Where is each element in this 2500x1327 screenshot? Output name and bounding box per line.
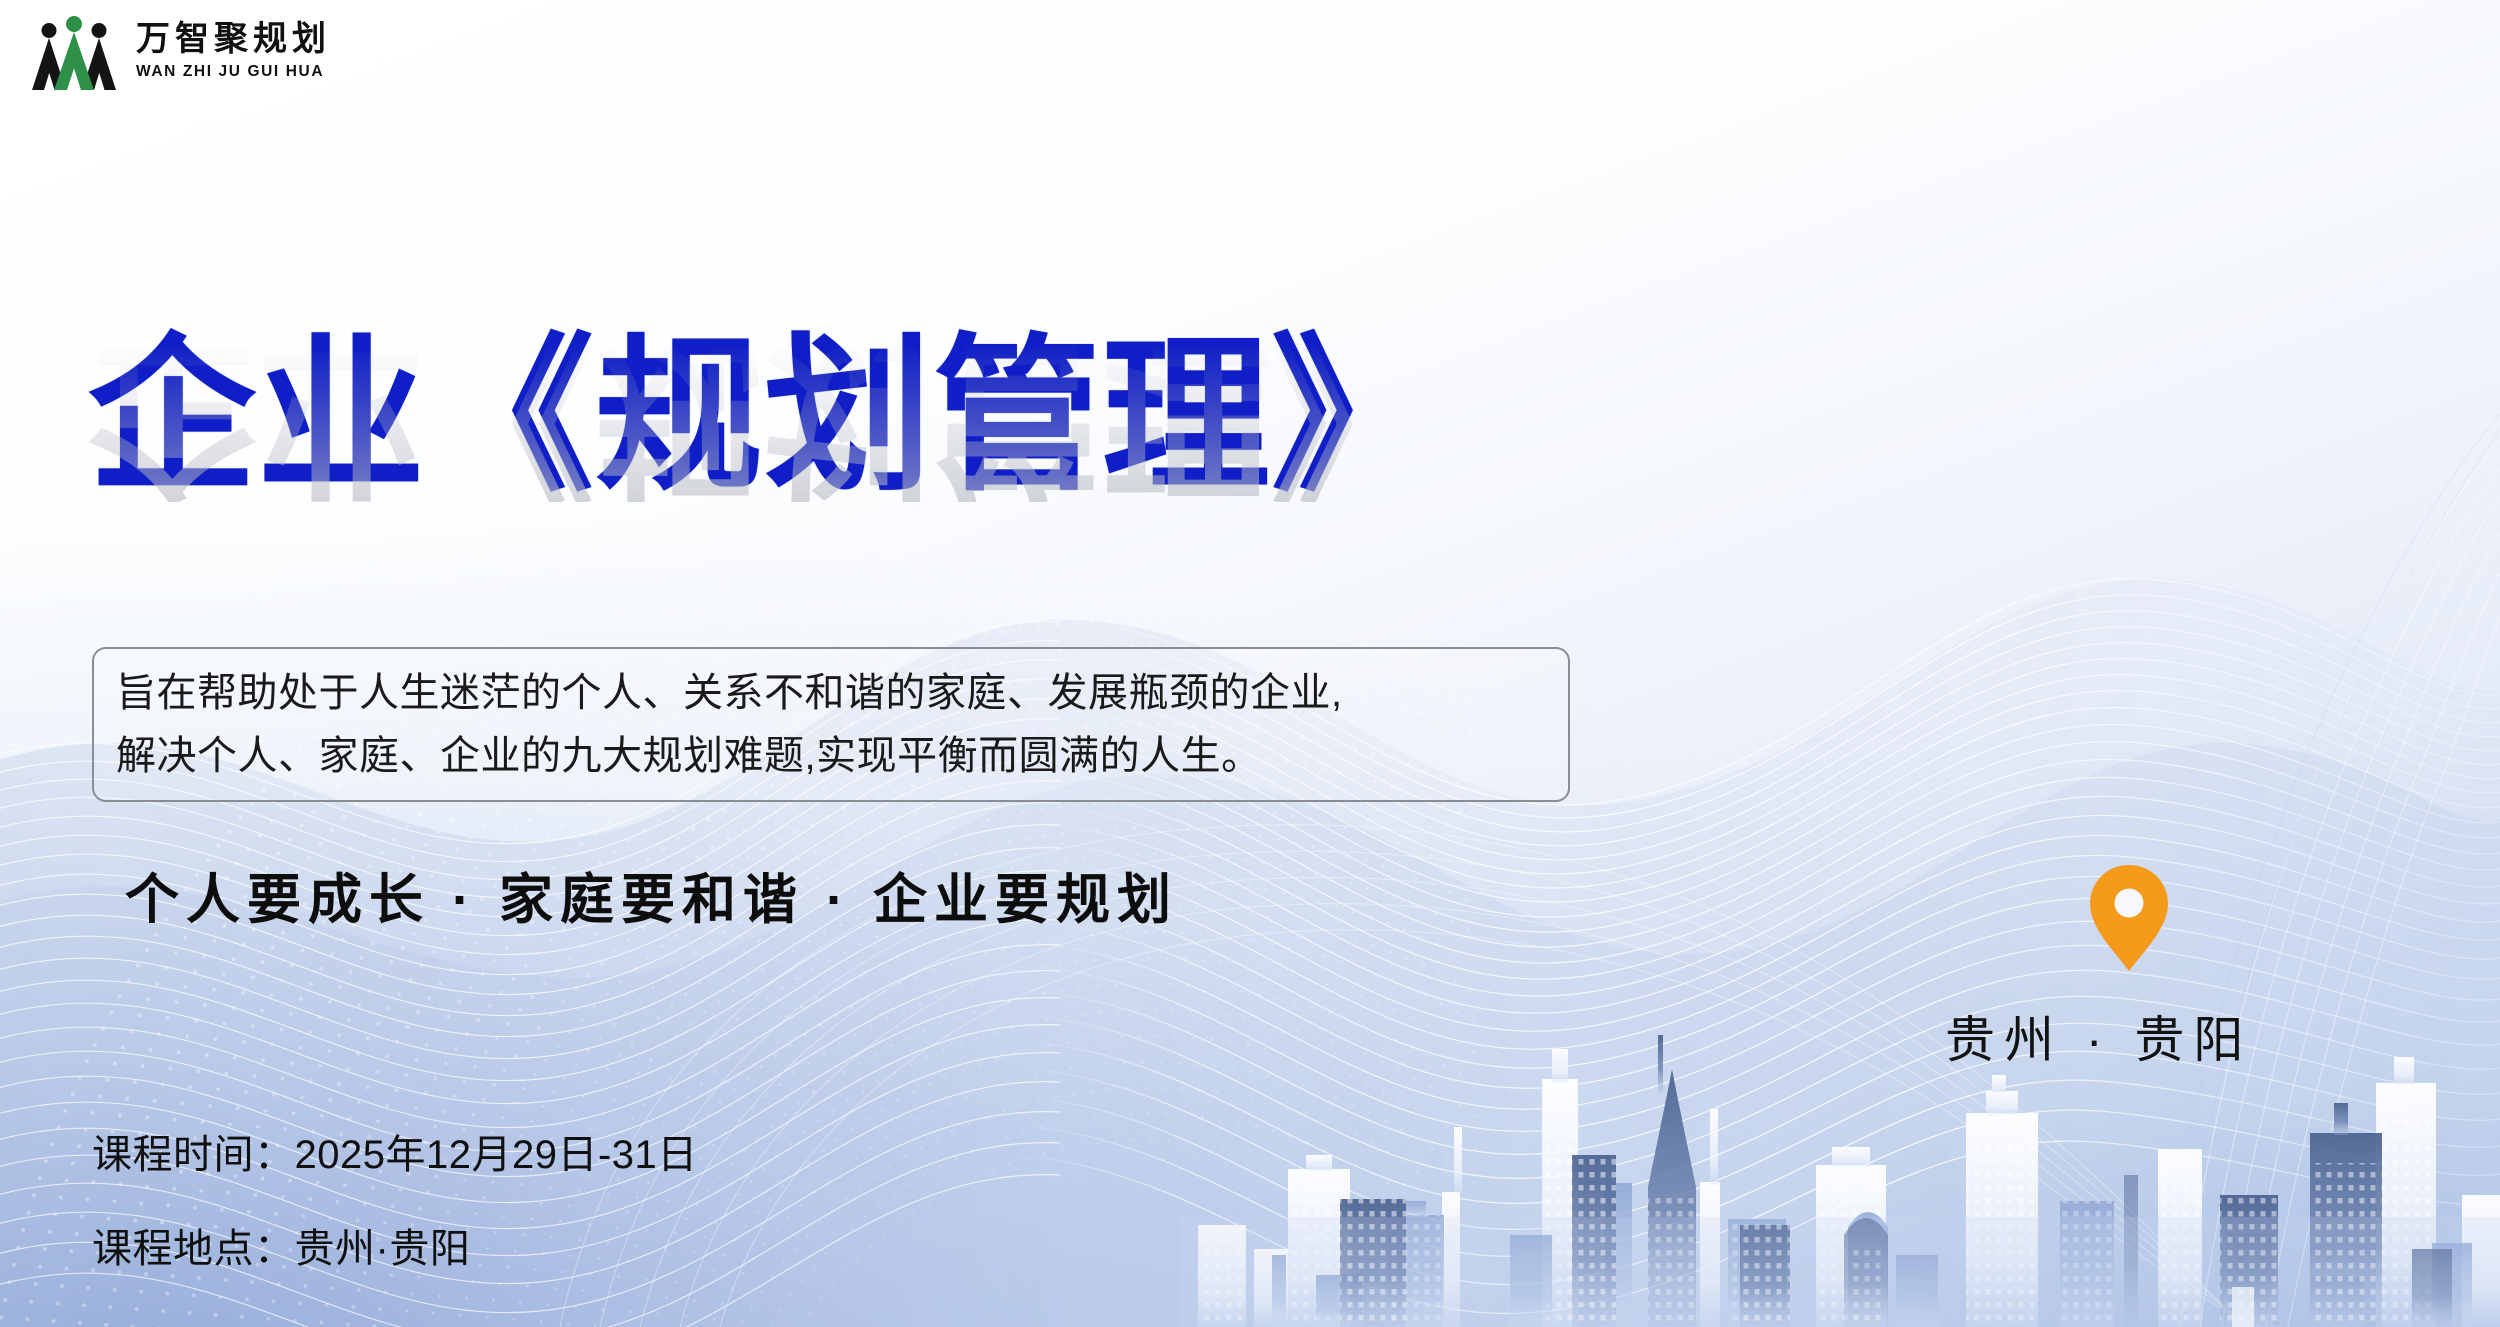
course-info: 课程时间：2025年12月29日-31日 课程地点：贵州·贵阳 [92,1122,698,1274]
course-time: 课程时间：2025年12月29日-31日 [92,1122,698,1180]
course-place: 课程地点：贵州·贵阳 [92,1216,698,1274]
brand-name-cn: 万智聚规划 [136,23,331,57]
brand-name-pinyin: WAN ZHI JU GUI HUA [136,64,331,80]
location-pin [2085,862,2173,974]
map-pin-icon [2085,862,2173,974]
description-box: 旨在帮助处于人生迷茫的个人、关系不和谐的家庭、发展瓶颈的企业, 解决个人、家庭、… [92,647,1570,802]
description-line-1: 旨在帮助处于人生迷茫的个人、关系不和谐的家庭、发展瓶颈的企业, [116,662,1546,725]
description-line-2: 解决个人、家庭、企业的九大规划难题,实现平衡而圆满的人生。 [116,725,1546,788]
city-label: 贵州 · 贵阳 [1945,1000,2252,1072]
three-people-logo-icon [26,12,122,90]
city-skyline-icon [1180,987,2500,1327]
poster-canvas: 万智聚规划 WAN ZHI JU GUI HUA 企业《规划管理》 企业《规划管… [0,0,2500,1327]
brand-logo[interactable]: 万智聚规划 WAN ZHI JU GUI HUA [26,12,331,90]
page-title-reflection: 企业《规划管理》 [88,334,1440,502]
slogan-text: 个人要成长 · 家庭要和谐 · 企业要规划 [125,855,1178,934]
hero-title-block: 企业《规划管理》 企业《规划管理》 [88,332,1440,670]
brand-text: 万智聚规划 WAN ZHI JU GUI HUA [136,23,331,80]
